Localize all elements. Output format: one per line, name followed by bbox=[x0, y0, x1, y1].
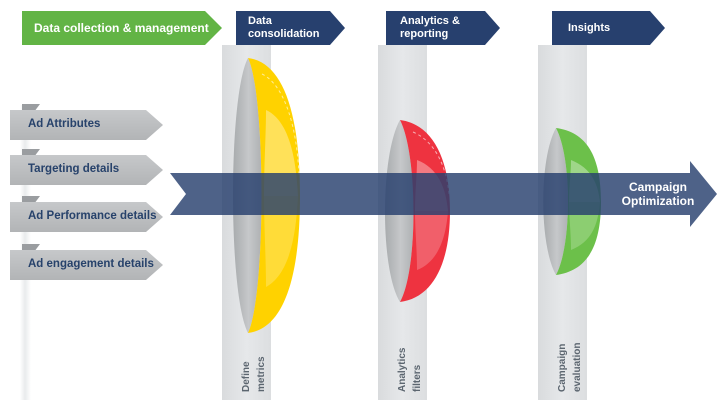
phase-label-line1: Data bbox=[248, 15, 320, 28]
stage-label-campaign-evaluation-line2: evaluation bbox=[560, 318, 584, 392]
input-label-ad-attributes[interactable]: Ad Attributes bbox=[28, 118, 100, 130]
phase-label-insights[interactable]: Insights bbox=[568, 22, 610, 35]
input-label-ad-engagement-details[interactable]: Ad engagement details bbox=[28, 258, 154, 270]
stage-label-analytics-filters-line2: filters bbox=[400, 318, 424, 392]
diagram-canvas: Data collection & management Data consol… bbox=[0, 0, 723, 400]
phase-label-data-consolidation[interactable]: Data consolidation bbox=[248, 15, 320, 40]
stage-label-define-metrics-line2: metrics bbox=[244, 318, 268, 392]
outcome-label-line1: Campaign bbox=[612, 180, 704, 194]
phase-label-line1: Analytics & bbox=[400, 15, 460, 28]
input-label-targeting-details[interactable]: Targeting details bbox=[28, 163, 119, 175]
phase-label-data-collection-management[interactable]: Data collection & management bbox=[34, 22, 209, 35]
phase-label-line2: reporting bbox=[400, 28, 460, 41]
input-label-ad-performance-details[interactable]: Ad Performance details bbox=[28, 210, 156, 222]
phase-label-line2: consolidation bbox=[248, 28, 320, 41]
outcome-label-campaign-optimization[interactable]: Campaign Optimization bbox=[612, 180, 704, 208]
phase-label-analytics-reporting[interactable]: Analytics & reporting bbox=[400, 15, 460, 40]
outcome-label-line2: Optimization bbox=[612, 194, 704, 208]
